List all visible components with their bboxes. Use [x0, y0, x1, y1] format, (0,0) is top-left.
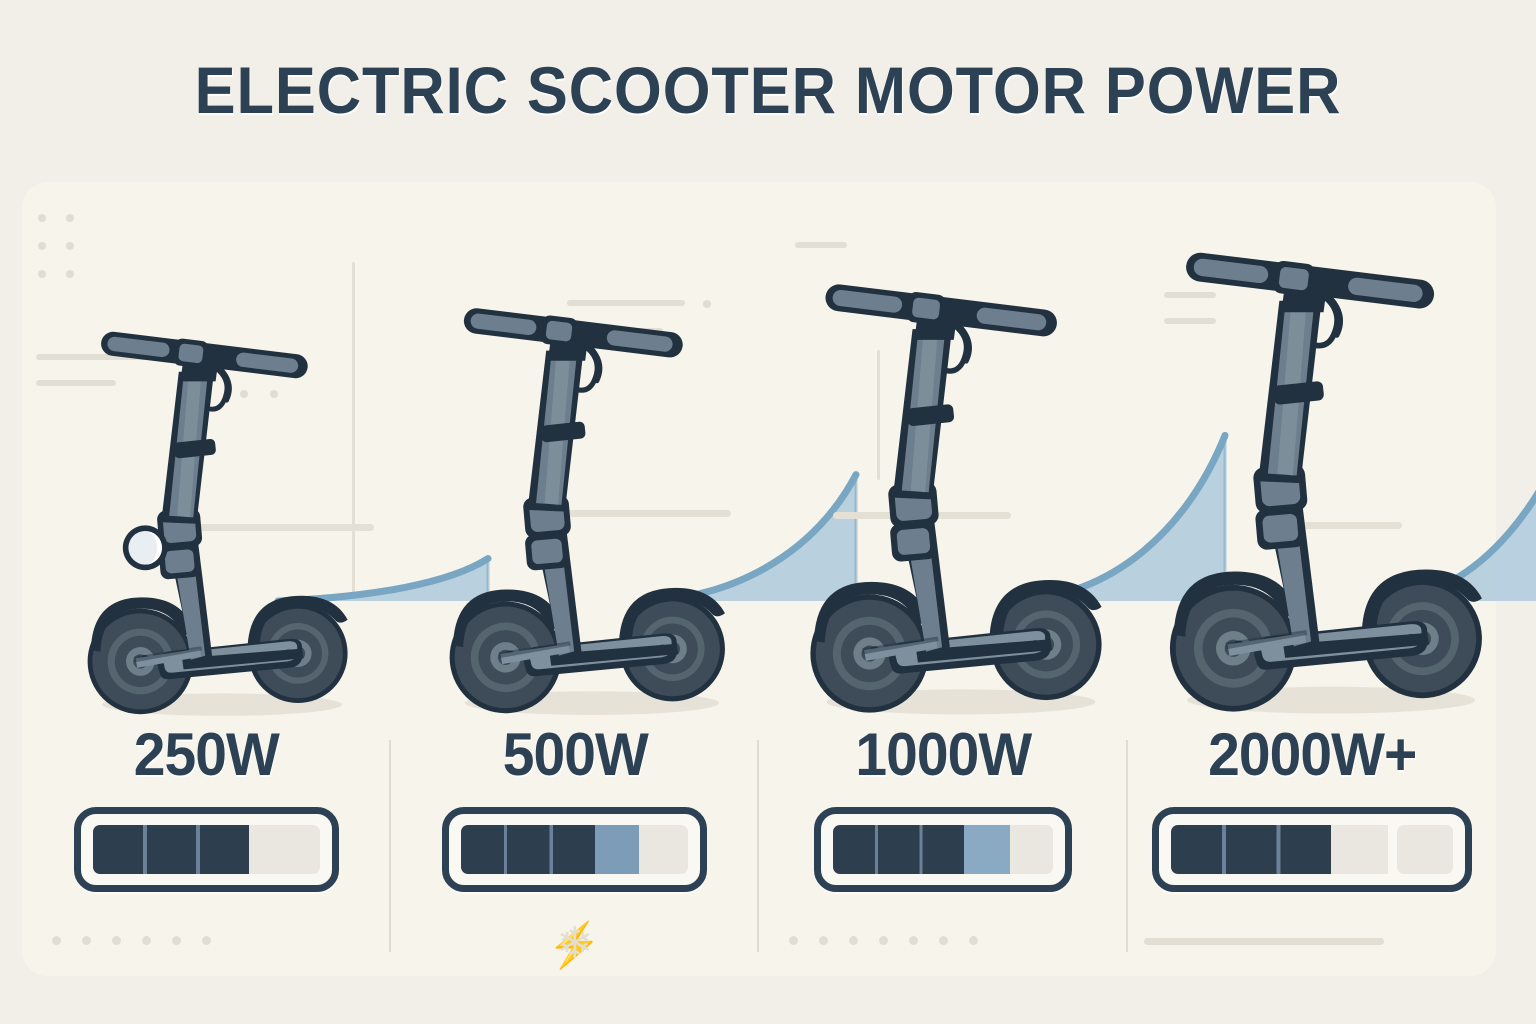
battery-segment — [639, 825, 688, 874]
panel-2000w[interactable]: 2000W+ — [1128, 182, 1497, 976]
battery-segment — [1171, 825, 1332, 874]
panel-footer-decor — [759, 908, 1128, 968]
scooter-illustration — [782, 279, 1105, 727]
scooter-stage — [22, 182, 391, 727]
power-label: 250W — [31, 720, 381, 789]
battery-segment — [595, 825, 640, 874]
battery-segment — [461, 825, 595, 874]
stem — [527, 351, 585, 512]
infographic-card: 250W — [22, 182, 1496, 976]
lightning-bolt-shape: ❄ — [556, 922, 593, 966]
scooter-stage — [1128, 182, 1497, 727]
footer-dot — [202, 936, 211, 945]
stem — [161, 372, 216, 524]
battery-meter-wrap — [391, 807, 760, 892]
battery-meter-wrap — [1128, 807, 1497, 892]
battery-meter-wrap — [22, 807, 391, 892]
footer-dot — [879, 936, 888, 945]
battery-segment — [1331, 825, 1387, 874]
lightning-bolt-icon: ⚡ — [547, 924, 602, 968]
battery-meter[interactable] — [814, 807, 1072, 892]
footer-dot — [819, 936, 828, 945]
battery-segment — [93, 825, 250, 874]
panel-footer-decor — [1128, 908, 1497, 968]
footer-dot — [52, 936, 61, 945]
battery-meter[interactable] — [442, 807, 707, 892]
scooter-stage — [759, 182, 1128, 727]
power-label: 1000W — [768, 720, 1118, 789]
footer-dot — [142, 936, 151, 945]
battery-meter-wrap — [759, 807, 1128, 892]
headlight-icon — [123, 525, 168, 570]
footer-dot — [969, 936, 978, 945]
footer-dot — [789, 936, 798, 945]
panel-250w[interactable]: 250W — [22, 182, 391, 976]
footer-dot — [939, 936, 948, 945]
footer-dot — [849, 936, 858, 945]
battery-segment — [833, 825, 964, 874]
scooter-illustration — [62, 327, 350, 727]
battery-meter[interactable] — [74, 807, 339, 892]
panel-footer-decor: ⚡ ❄ — [391, 908, 760, 968]
power-label: 500W — [400, 720, 750, 789]
footer-dot — [82, 936, 91, 945]
footer-dot — [112, 936, 121, 945]
battery-segment — [1397, 825, 1453, 874]
page-title: ELECTRIC SCOOTER MOTOR POWER — [54, 52, 1482, 128]
panel-1000w[interactable]: 1000W — [759, 182, 1128, 976]
stem — [893, 329, 955, 499]
footer-dot — [172, 936, 181, 945]
battery-segment — [964, 825, 1010, 874]
panel-footer-decor — [22, 908, 391, 968]
battery-segment — [249, 825, 319, 874]
panel-row: 250W — [22, 182, 1496, 976]
panel-500w[interactable]: 500W ⚡ ❄ — [391, 182, 760, 976]
scooter-stage — [391, 182, 760, 727]
battery-meter[interactable] — [1152, 807, 1472, 892]
power-label: 2000W+ — [1137, 720, 1487, 789]
stem — [1258, 301, 1324, 483]
battery-segment — [1010, 825, 1054, 874]
scooter-illustration — [1139, 247, 1485, 727]
footer-line — [1144, 938, 1384, 945]
scooter-illustration — [422, 303, 727, 727]
footer-dot — [909, 936, 918, 945]
